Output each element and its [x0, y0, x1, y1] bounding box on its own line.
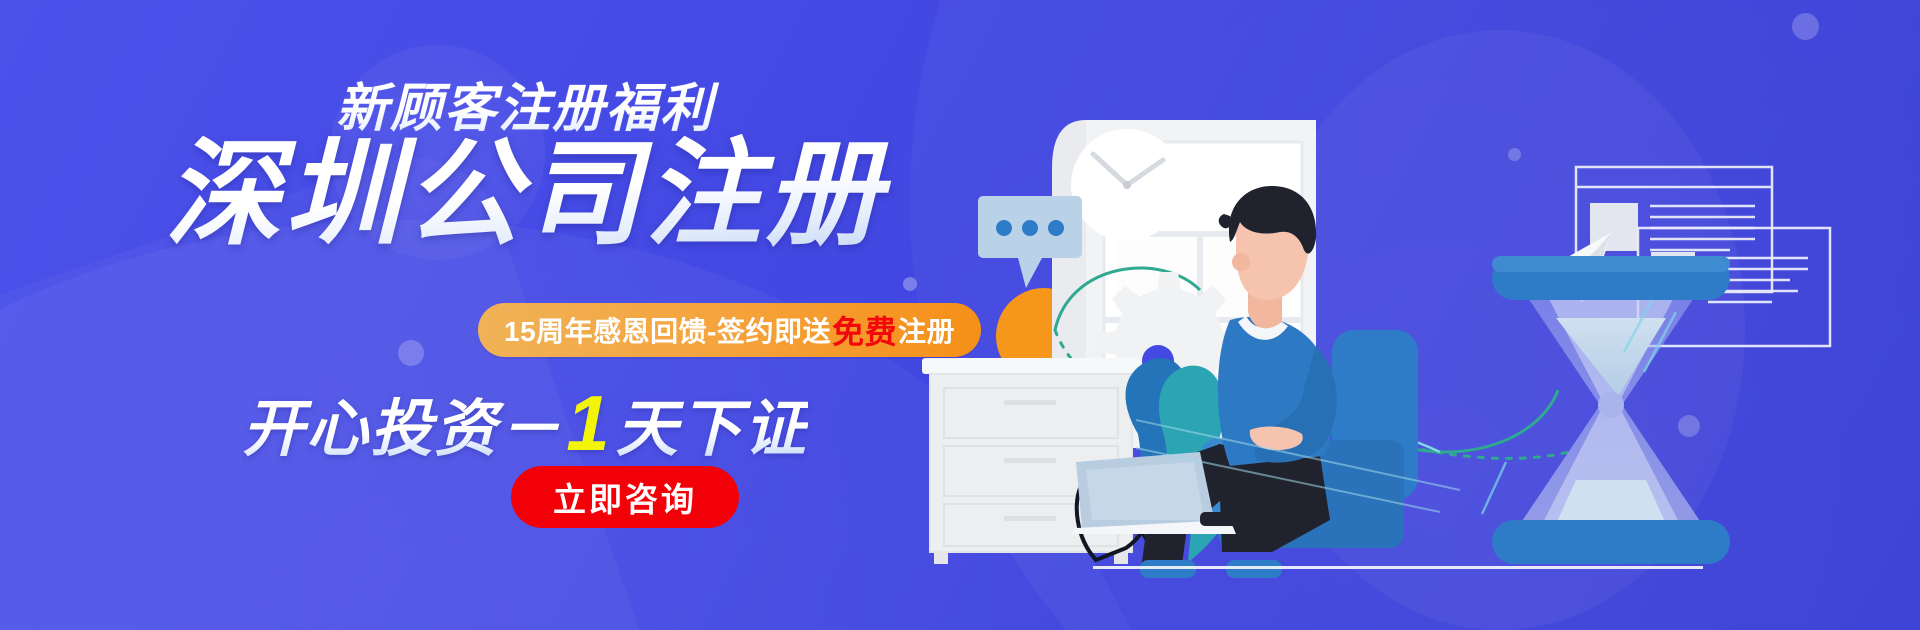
promo-tagline: 开心投资－1天下证: [0, 378, 1050, 469]
offer-badge-prefix: 15周年感恩回馈-签约即送: [504, 310, 831, 350]
consult-now-label: 立即咨询: [553, 473, 697, 521]
tagline-before: 开心投资－: [242, 395, 562, 464]
promo-headline: 深圳公司注册: [0, 132, 1050, 257]
consult-now-button[interactable]: 立即咨询: [511, 466, 739, 528]
promo-copy-block: 新顾客注册福利 深圳公司注册 15周年感恩回馈-签约即送免费注册 开心投资－1天…: [0, 0, 1060, 630]
ground-line: [1093, 566, 1703, 569]
offer-badge-suffix: 注册: [898, 310, 955, 350]
promo-banner: 新顾客注册福利 深圳公司注册 15周年感恩回馈-签约即送免费注册 开心投资－1天…: [0, 0, 1920, 630]
tagline-after: 天下证: [616, 395, 808, 464]
tagline-number: 1: [562, 379, 615, 467]
clock-icon: [1071, 129, 1183, 241]
offer-badge: 15周年感恩回馈-签约即送免费注册: [478, 303, 981, 357]
offer-badge-highlight: 免费: [831, 307, 898, 353]
